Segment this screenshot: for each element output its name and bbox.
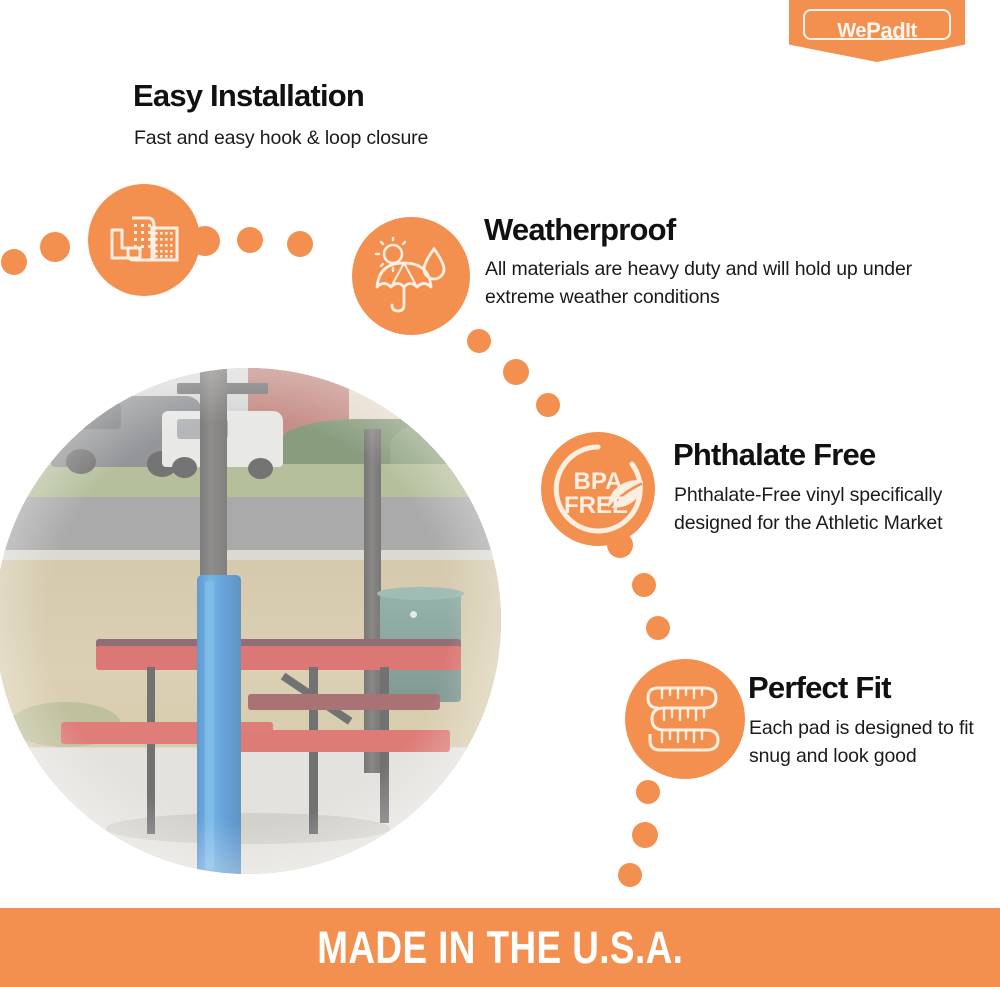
logo-wordmark: WePadIt bbox=[789, 0, 965, 62]
feature-description-easy-installation: Fast and easy hook & loop closure bbox=[134, 125, 554, 153]
bpa-free-leaf-icon: BPA FREE bbox=[541, 432, 655, 546]
photo-bench-right bbox=[238, 730, 451, 752]
feature-title-phthalate-free: Phthalate Free bbox=[673, 439, 875, 472]
bpa-label: BPA bbox=[574, 468, 623, 495]
brand-logo-banner: WePadIt bbox=[789, 0, 965, 62]
connector-dot bbox=[632, 573, 656, 597]
connector-dot bbox=[1, 249, 27, 275]
connector-dot bbox=[536, 393, 560, 417]
product-photo bbox=[0, 368, 501, 874]
photo-pole-pad-highlight bbox=[205, 581, 213, 869]
logo-word-pad: Pad bbox=[866, 18, 905, 44]
photo-concrete-pad bbox=[0, 748, 501, 875]
connector-dot bbox=[467, 329, 491, 353]
photo-trash-can-highlight bbox=[410, 611, 417, 618]
connector-dot bbox=[618, 863, 642, 887]
infographic-page: WePadIt Easy Installation Fast and easy … bbox=[0, 0, 1000, 987]
photo-bench-back bbox=[248, 694, 440, 709]
photo-blue-pole-pad bbox=[197, 575, 241, 874]
photo-suv-window bbox=[61, 403, 122, 428]
photo-trash-can-rim bbox=[377, 587, 464, 600]
connector-dot bbox=[632, 822, 658, 848]
feature-title-weatherproof: Weatherproof bbox=[484, 214, 675, 247]
product-photo-scene bbox=[0, 368, 501, 874]
free-label: FREE bbox=[564, 492, 628, 519]
feature-title-easy-installation: Easy Installation bbox=[133, 80, 364, 113]
photo-road bbox=[0, 497, 501, 553]
photo-table-leg-left bbox=[147, 667, 155, 834]
connector-dot bbox=[503, 359, 529, 385]
connector-dot bbox=[636, 780, 660, 804]
connector-dot bbox=[646, 616, 670, 640]
made-in-usa-text: MADE IN THE U.S.A. bbox=[317, 922, 683, 974]
made-in-usa-banner: MADE IN THE U.S.A. bbox=[0, 908, 1000, 987]
measuring-tape-icon bbox=[625, 659, 745, 779]
connector-dot bbox=[287, 231, 313, 257]
sun-umbrella-raindrop-icon bbox=[352, 217, 470, 335]
hook-and-loop-icon bbox=[88, 184, 200, 296]
connector-dot bbox=[40, 232, 70, 262]
feature-title-perfect-fit: Perfect Fit bbox=[748, 672, 891, 705]
photo-car-wheel-front bbox=[172, 457, 197, 478]
connector-dot bbox=[237, 227, 263, 253]
feature-description-weatherproof: All materials are heavy duty and will ho… bbox=[485, 256, 915, 311]
feature-description-perfect-fit: Each pad is designed to fit snug and loo… bbox=[749, 715, 989, 770]
feature-description-phthalate-free: Phthalate-Free vinyl specifically design… bbox=[674, 482, 974, 537]
logo-word-we: We bbox=[837, 20, 866, 43]
photo-pole-right bbox=[364, 429, 380, 773]
logo-word-it: It bbox=[905, 20, 916, 43]
